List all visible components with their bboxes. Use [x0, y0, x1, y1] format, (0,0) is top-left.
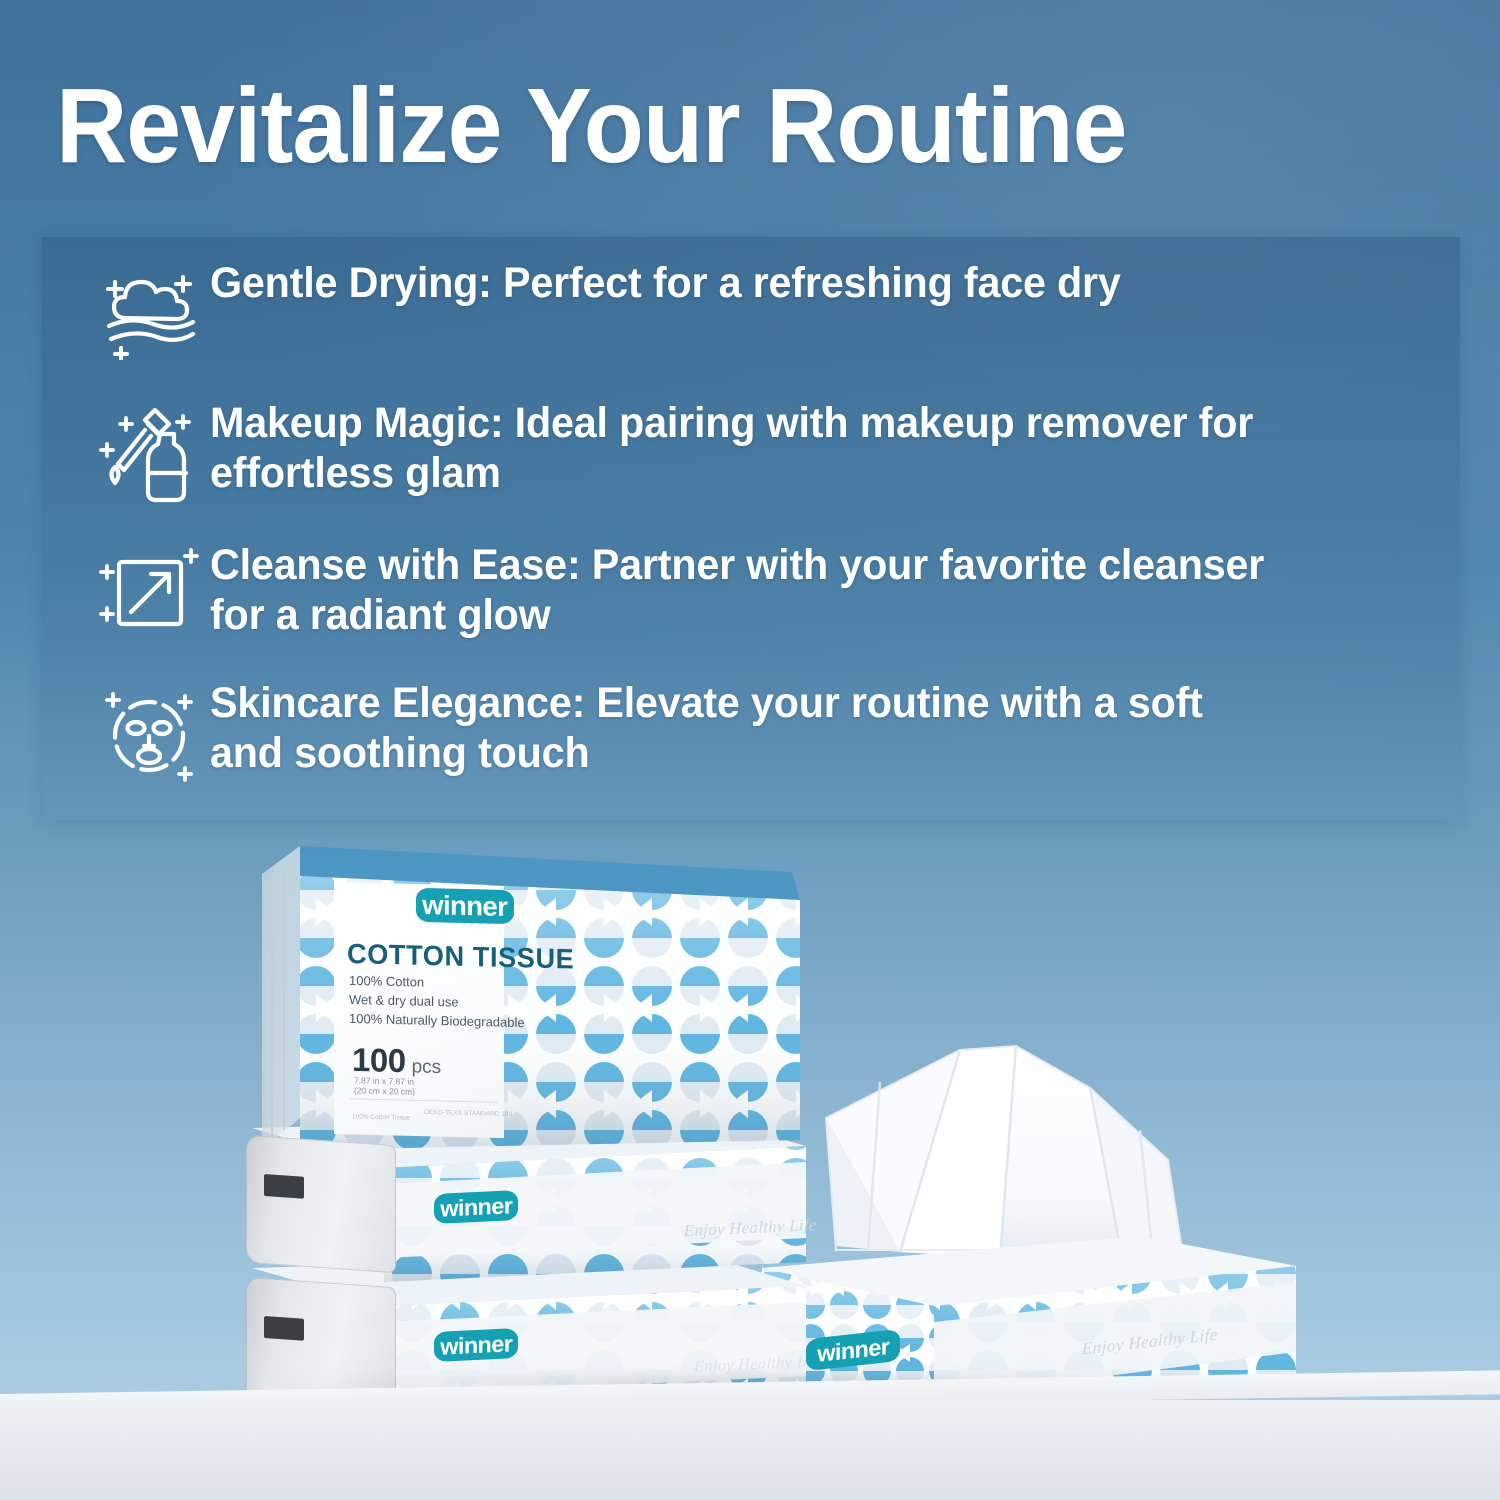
barcode-label [264, 1316, 304, 1341]
brand-name: winner [440, 1330, 512, 1360]
brand-logo-badge-middle-pack: winner [434, 1190, 518, 1224]
certification-mark-left: 100% Cotton Tissue [352, 1113, 410, 1122]
brand-name: winner [440, 1192, 512, 1222]
shelf-surface [0, 1400, 1500, 1500]
product-photo: winner COTTON TISSUE 100% Cotton Wet & d… [0, 0, 1500, 1500]
product-title: COTTON TISSUE [347, 938, 574, 976]
brand-logo-badge-lower-pack: winner [434, 1328, 518, 1362]
tissue-fan [826, 1046, 1182, 1258]
brand-name: winner [422, 889, 507, 922]
pack-dimensions: 7.87 in x 7.87 in (20 cm x 20 cm) [354, 1075, 415, 1096]
dimensions-cm: (20 cm x 20 cm) [354, 1085, 415, 1096]
brand-logo-badge-top-pack: winner [416, 888, 514, 924]
barcode-label [264, 1174, 304, 1199]
product-bullets: 100% Cotton Wet & dry dual use 100% Natu… [349, 971, 525, 1032]
piece-count-number: 100 [352, 1041, 406, 1080]
brand-name: winner [817, 1333, 889, 1368]
marketing-banner: Revitalize Your Routine Gentle Drying: P… [0, 0, 1500, 1500]
piece-count-unit: pcs [412, 1056, 442, 1079]
pack-side-panel-middle [246, 1135, 396, 1273]
